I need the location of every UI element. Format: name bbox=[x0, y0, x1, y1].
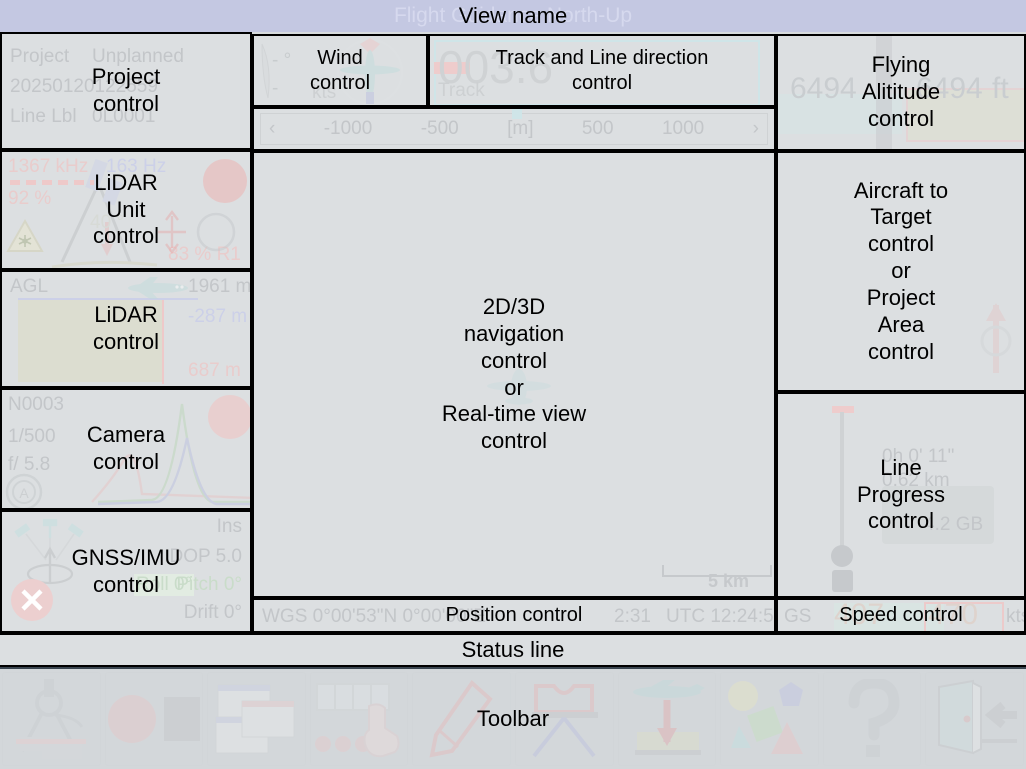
cross-track-indicator bbox=[512, 107, 522, 119]
speed-control-label: Speed control bbox=[778, 600, 1024, 631]
navigation-view-panel[interactable]: 5 km 2D/3D navigation control or Real-ti… bbox=[252, 151, 776, 598]
toolbar-label: Toolbar bbox=[0, 669, 1026, 769]
cross-track-left-arrow[interactable]: ‹ bbox=[269, 118, 275, 140]
project-control-label: Project control bbox=[2, 34, 250, 148]
project-control-panel[interactable]: Project Unplanned 20250120122559 Line Lb… bbox=[0, 32, 252, 150]
lidar-control-panel[interactable]: AGL 1961 m -287 m 687 m LiDAR control bbox=[0, 270, 252, 388]
position-control-panel[interactable]: WGS 0°00'53"N 0°00'00"E 2:31 UTC 12:24:5… bbox=[252, 598, 776, 633]
position-control-label: Position control bbox=[254, 600, 774, 631]
gnss-imu-control-panel[interactable]: Ins DOP 5.0 Roll 0° Pitch 0° Drift 0° GN… bbox=[0, 510, 252, 633]
cross-track-tick-3: 500 bbox=[582, 118, 614, 140]
status-line: Status line bbox=[0, 633, 1026, 667]
track-line-direction-control-label: Track and Line direction control bbox=[430, 36, 774, 105]
lidar-control-label: LiDAR control bbox=[2, 272, 250, 386]
wind-control-panel[interactable]: - ° - kts Wind control bbox=[252, 34, 428, 107]
speed-control-panel[interactable]: GS 407 470 kts Speed control bbox=[776, 598, 1026, 633]
cross-track-tick-0: -1000 bbox=[324, 118, 373, 140]
cross-track-right-arrow[interactable]: › bbox=[753, 118, 759, 140]
cross-track-tick-4: 1000 bbox=[662, 118, 704, 140]
aircraft-target-control-panel[interactable]: Aircraft to Target control or Project Ar… bbox=[776, 151, 1026, 392]
camera-control-label: Camera control bbox=[2, 390, 250, 508]
flying-altitude-control-label: Flying Alititude control bbox=[778, 36, 1024, 149]
camera-control-panel[interactable]: A N0003 1/500 f/ 5.8 Camera control bbox=[0, 388, 252, 510]
cross-track-scale-bar[interactable]: ‹ -1000 -500 [m] 500 1000 › bbox=[252, 107, 776, 151]
track-line-direction-control-panel[interactable]: 003.6 Track Track and Line direction con… bbox=[428, 34, 776, 107]
cross-track-tick-1: -500 bbox=[421, 118, 459, 140]
status-line-label: Status line bbox=[462, 637, 565, 663]
gnss-imu-control-label: GNSS/IMU control bbox=[2, 512, 250, 631]
line-progress-control-panel[interactable]: 0h 0' 11" 0.62 km 4.2 GB Line Progress c… bbox=[776, 392, 1026, 598]
cross-track-tick-2: [m] bbox=[507, 118, 533, 140]
wind-control-label: Wind control bbox=[254, 36, 426, 105]
line-progress-control-label: Line Progress control bbox=[778, 394, 1024, 596]
lidar-unit-control-label: LiDAR Unit control bbox=[2, 152, 250, 268]
view-name-label: View name bbox=[459, 3, 567, 29]
flight-guidance-window: Flight Guidance North-Up View name Proje… bbox=[0, 0, 1026, 769]
lidar-unit-control-panel[interactable]: 1367 kHz 163 Hz 92 % 40 ° 83 % R1 LiDAR … bbox=[0, 150, 252, 270]
navigation-view-label: 2D/3D navigation control or Real-time vi… bbox=[254, 153, 774, 596]
flying-altitude-control-panel[interactable]: 6494 6494 ft Flying Alititude control bbox=[776, 34, 1026, 151]
window-title-bar: Flight Guidance North-Up View name bbox=[0, 0, 1026, 32]
aircraft-target-control-label: Aircraft to Target control or Project Ar… bbox=[778, 153, 1024, 390]
toolbar: Toolbar bbox=[0, 667, 1026, 769]
